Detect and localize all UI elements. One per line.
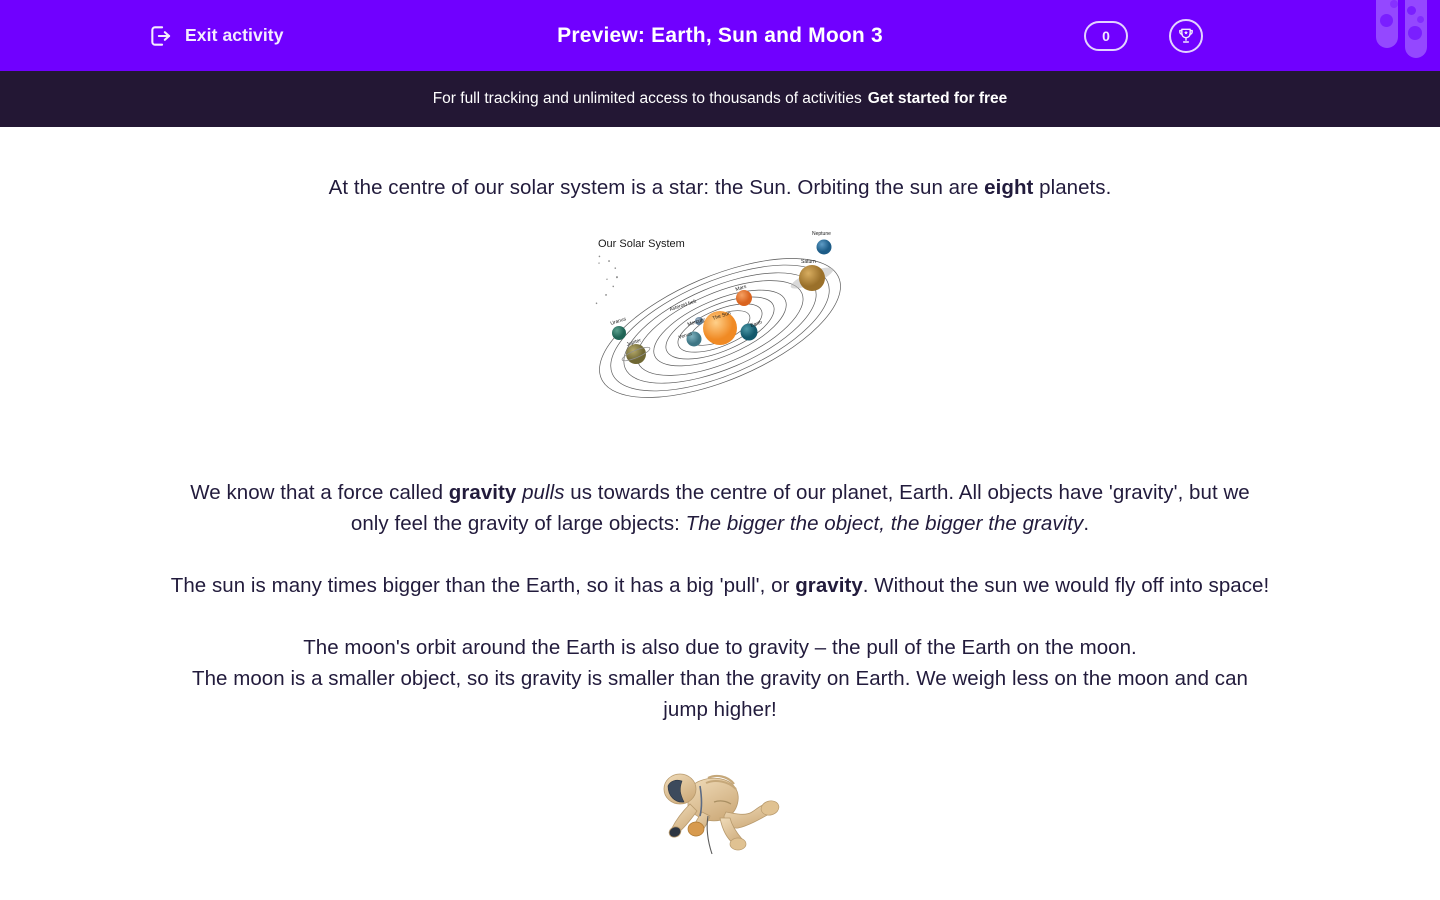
paragraph-intro: At the centre of our solar system is a s… — [240, 172, 1200, 203]
astronaut-body — [664, 774, 781, 854]
header-right-group: 0 — [1084, 0, 1440, 71]
promo-text: For full tracking and unlimited access t… — [433, 90, 862, 108]
activity-content: At the centre of our solar system is a s… — [0, 127, 1440, 866]
solar-diagram-title: Our Solar System — [598, 238, 685, 250]
sun-text-1: The sun is many times bigger than the Ea… — [171, 574, 795, 597]
trophy-button[interactable] — [1169, 19, 1203, 53]
bubble — [1407, 6, 1416, 15]
bubble — [1380, 14, 1393, 27]
gravity-bold-1: gravity — [449, 481, 517, 504]
sun-bold-gravity: gravity — [795, 574, 863, 597]
bubble — [1390, 0, 1398, 8]
get-started-link[interactable]: Get started for free — [868, 90, 1008, 108]
floating-astronaut-image — [650, 756, 790, 866]
solar-system-diagram: Our Solar System The Sun Asteroid belt M… — [590, 227, 850, 422]
exit-door-arrow-icon — [148, 23, 174, 49]
label-neptune: Neptune — [812, 231, 831, 237]
planet-neptune — [817, 240, 832, 255]
intro-text-2: planets. — [1033, 176, 1111, 199]
paragraph-gravity: We know that a force called gravity pull… — [180, 477, 1260, 539]
top-header-bar: Exit activity Preview: Earth, Sun and Mo… — [0, 0, 1440, 71]
bubble — [1417, 16, 1424, 23]
score-badge[interactable]: 0 — [1084, 21, 1128, 51]
test-tubes-icon — [1367, 0, 1440, 71]
moon-line-1: The moon's orbit around the Earth is als… — [303, 636, 1137, 659]
label-earth: Earth — [750, 319, 763, 328]
intro-bold-eight: eight — [984, 176, 1033, 199]
label-uranus: Uranus — [610, 316, 628, 327]
exit-activity-label: Exit activity — [185, 25, 284, 46]
label-asteroid-belt: Asteroid belt — [669, 298, 698, 312]
gravity-italic-phrase: The bigger the object, the bigger the gr… — [686, 512, 1084, 535]
promo-banner: For full tracking and unlimited access t… — [0, 71, 1440, 127]
gravity-italic-pulls: pulls — [516, 481, 564, 504]
exit-activity-button[interactable]: Exit activity — [148, 23, 284, 49]
gravity-text-1: We know that a force called — [190, 481, 449, 504]
planet-mars — [736, 290, 752, 306]
score-value: 0 — [1102, 28, 1110, 44]
gravity-text-3: . — [1083, 512, 1089, 535]
moon-line-2: The moon is a smaller object, so its gra… — [192, 667, 1248, 721]
sun-text-2: . Without the sun we would fly off into … — [863, 574, 1269, 597]
paragraph-moon: The moon's orbit around the Earth is als… — [173, 632, 1268, 725]
label-saturn: Saturn — [801, 259, 816, 265]
trophy-award-icon — [1176, 26, 1196, 46]
planet-uranus — [612, 326, 626, 340]
planet-saturn — [799, 265, 825, 291]
paragraph-sun: The sun is many times bigger than the Ea… — [153, 570, 1288, 601]
bubble — [1408, 26, 1422, 40]
intro-text-1: At the centre of our solar system is a s… — [329, 176, 985, 199]
